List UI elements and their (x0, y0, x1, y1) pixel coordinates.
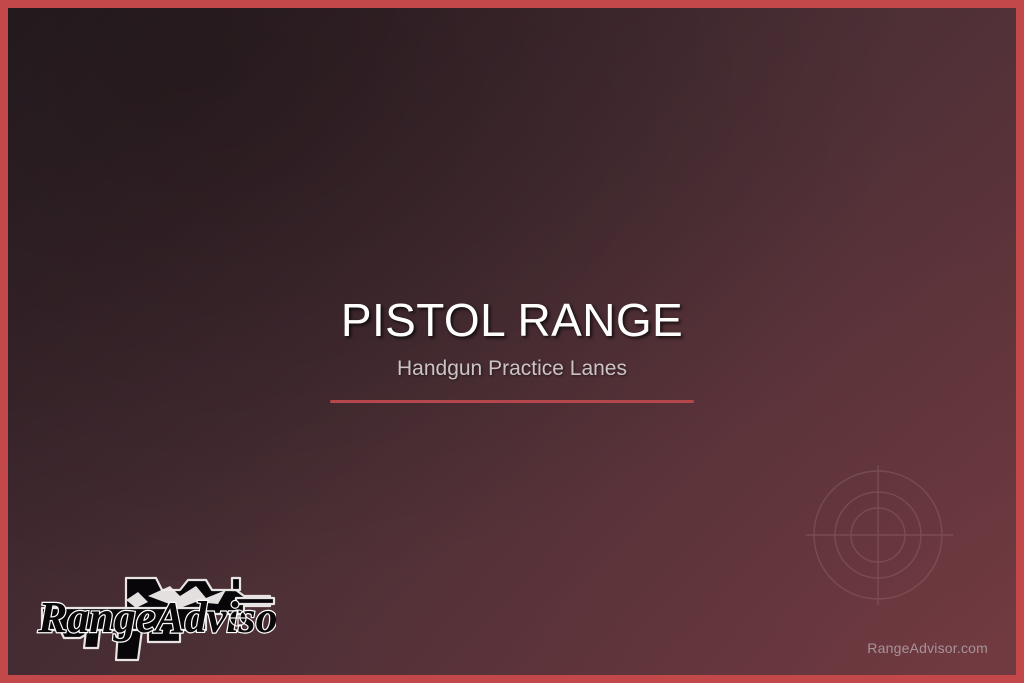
crosshair-target-icon (798, 455, 958, 615)
page-subtitle: Handgun Practice Lanes (8, 356, 1016, 382)
brand-logo: RangeAdvisor (30, 556, 276, 664)
page-title: PISTOL RANGE (8, 294, 1016, 346)
slide: PISTOL RANGE Handgun Practice Lanes (0, 0, 1024, 683)
title-block: PISTOL RANGE Handgun Practice Lanes (8, 294, 1016, 403)
footer-url: RangeAdvisor.com (867, 639, 988, 657)
title-divider (330, 400, 694, 403)
